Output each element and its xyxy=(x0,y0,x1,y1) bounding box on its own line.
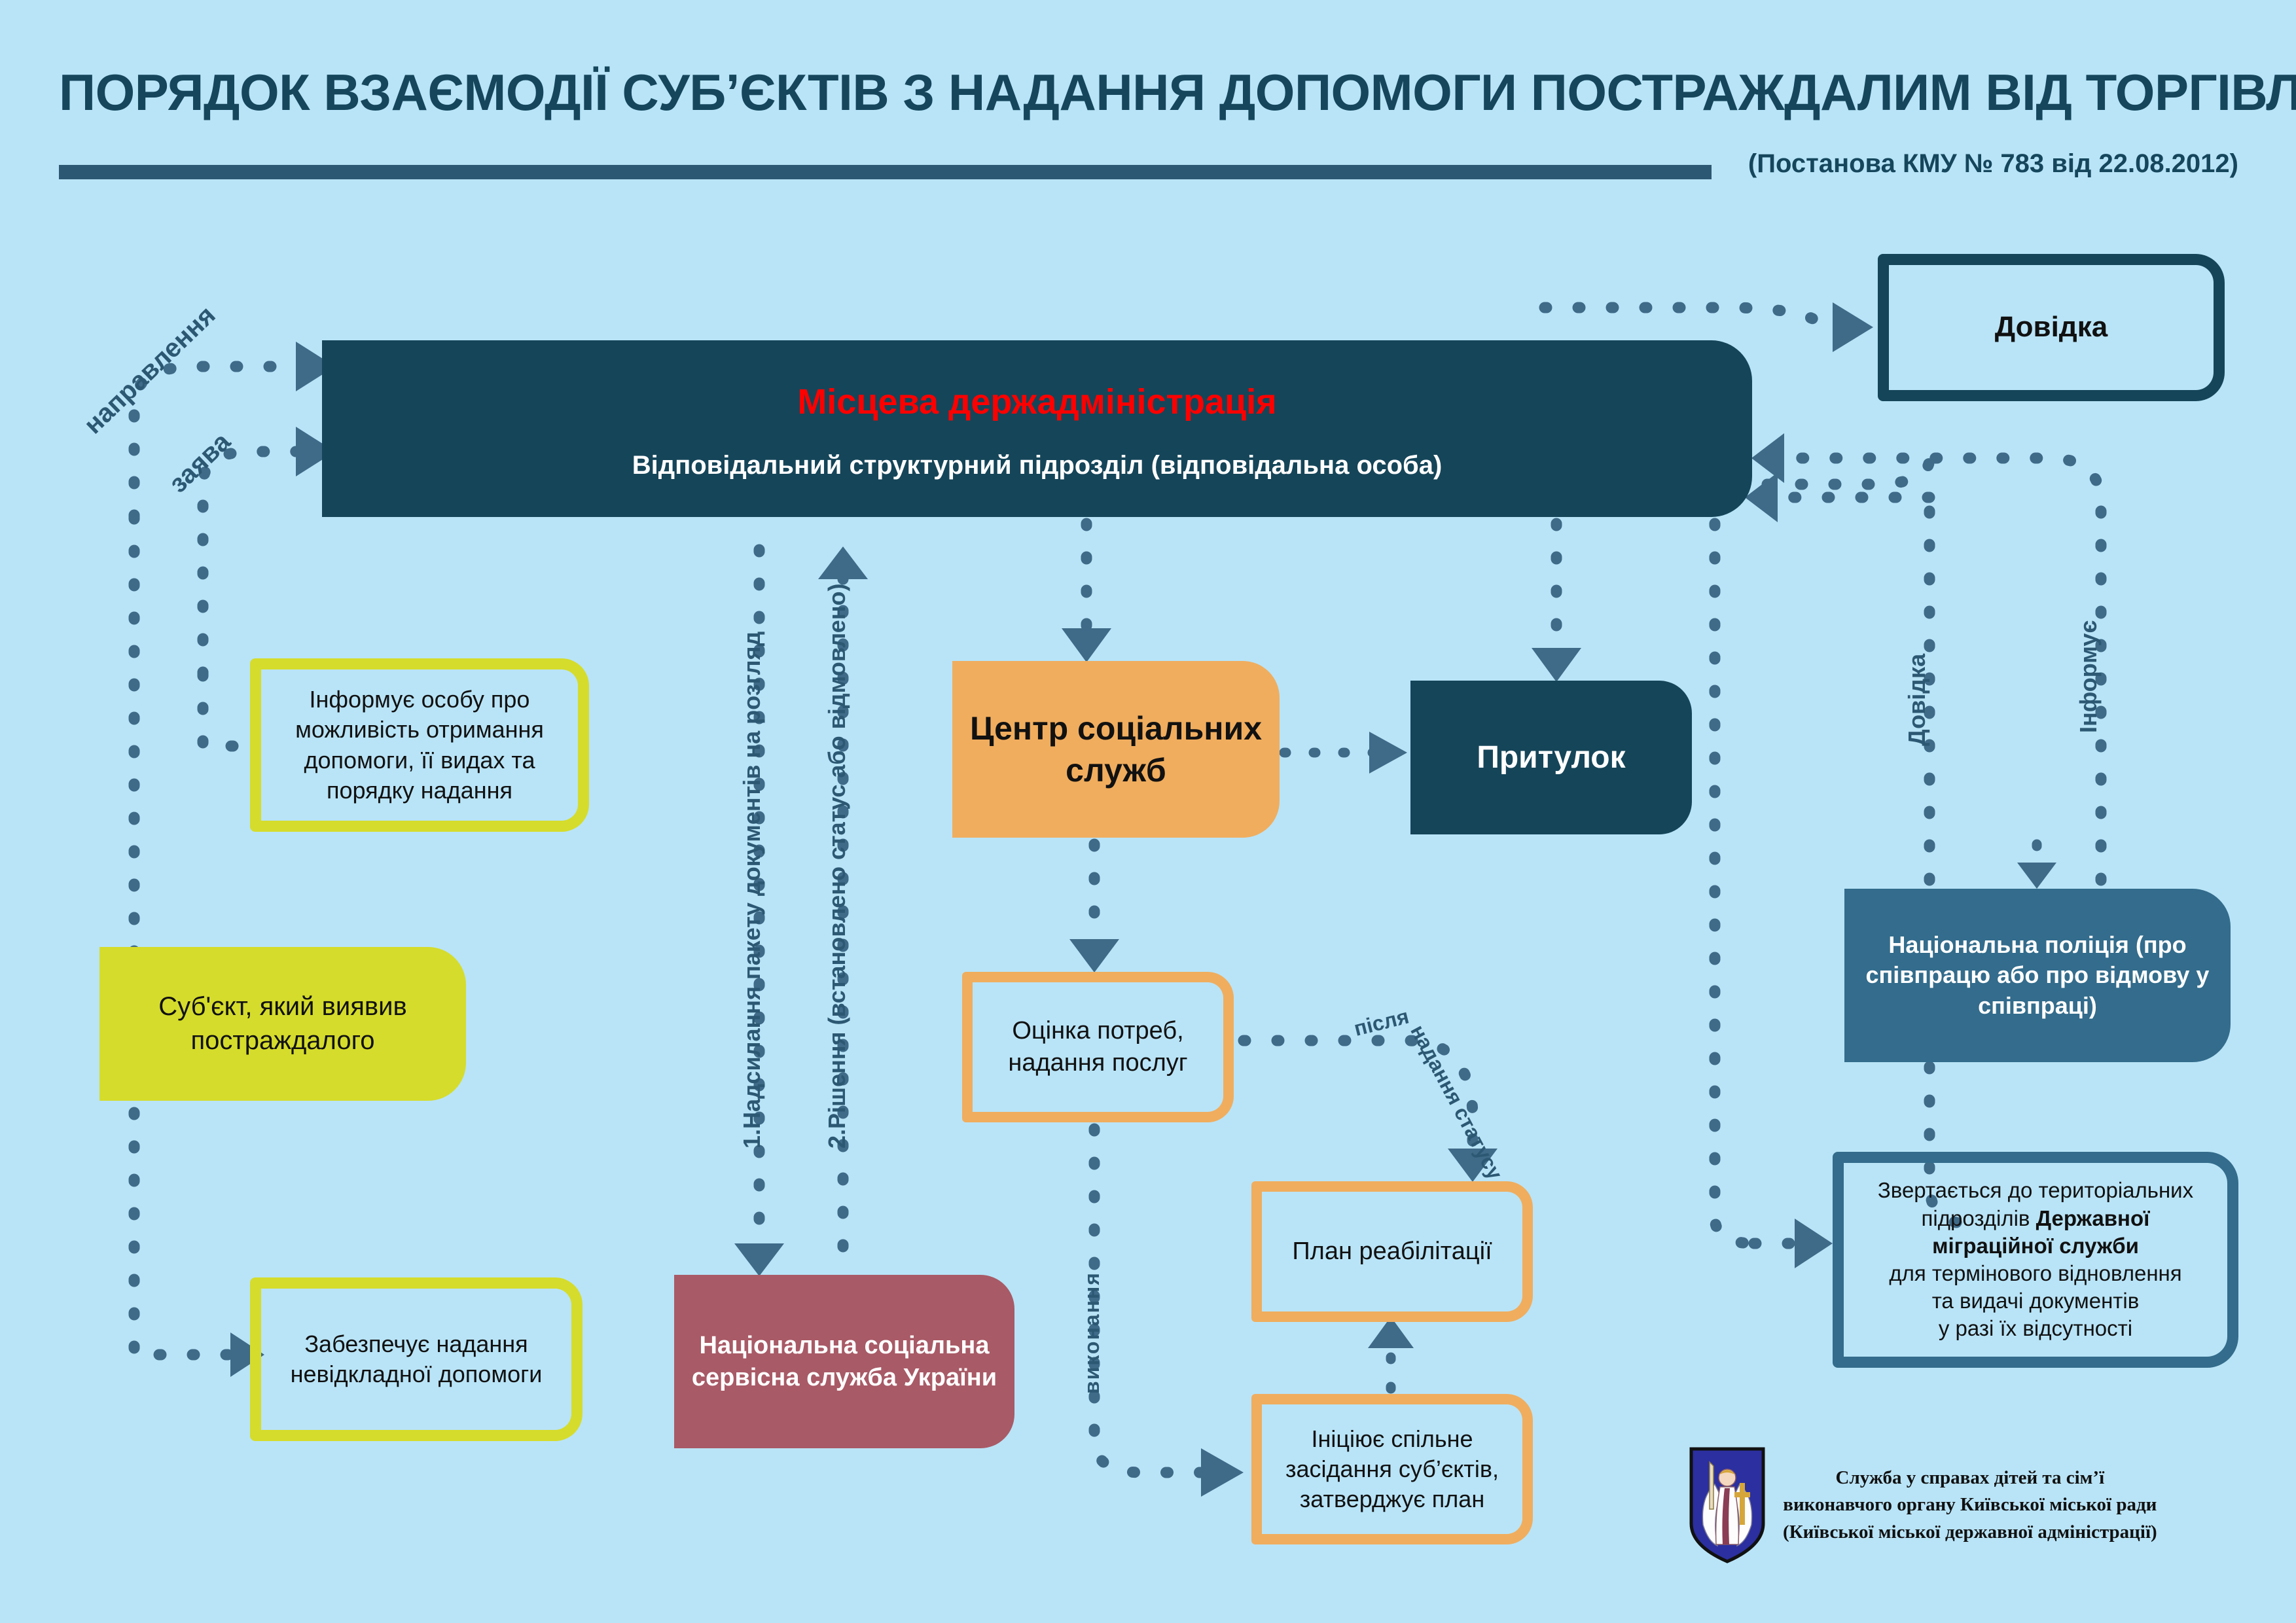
edge-label-pislya: після xyxy=(1352,1004,1411,1041)
node-urgent-help[interactable]: Забезпечує надання невідкладної допомоги xyxy=(250,1277,583,1441)
page-subtitle: (Постанова КМУ № 783 від 22.08.2012) xyxy=(1309,149,2238,179)
kyiv-coat-of-arms-icon xyxy=(1689,1446,1766,1564)
edge-label-zayava: заява xyxy=(164,427,236,499)
footer-line-3: (Київської міської державної адміністрац… xyxy=(1783,1519,2157,1546)
edge-label-informue-vertical: Інформує xyxy=(2075,620,2102,733)
migration-line2a: підрозділів xyxy=(1922,1206,2036,1230)
edge-label-vykonannya: виконання xyxy=(1080,1272,1104,1394)
footer-line-1: Служба у справах дітей та сім’ї xyxy=(1783,1465,2157,1491)
node-needs-assessment[interactable]: Оцінка потреб, надання послуг xyxy=(962,972,1234,1122)
node-informs-person[interactable]: Інформує особу про можливість отримання … xyxy=(250,658,589,832)
migration-line1: Звертається до територіальних xyxy=(1878,1178,2193,1202)
node-dovidka[interactable]: Довідка xyxy=(1878,254,2225,401)
edge-label-napravlennya: направлення xyxy=(79,300,221,440)
node-subject-who-found-victim[interactable]: Суб'єкт, який виявив постраждалого xyxy=(99,947,466,1101)
node-national-social-service[interactable]: Національна соціальна сервісна служба Ук… xyxy=(674,1275,1014,1448)
node-shelter[interactable]: Притулок xyxy=(1410,681,1692,834)
migration-line6: у разі їх відсутності xyxy=(1939,1316,2132,1340)
edge-label-step1: 1.Надсилання пакету документів на розгля… xyxy=(738,632,766,1149)
edge-label-dovidka-vertical: Довідка xyxy=(1903,654,1931,746)
admin-subtitle: Відповідальний структурний підрозділ (ві… xyxy=(632,451,1443,480)
migration-line3b: міграційної служби xyxy=(1932,1234,2139,1258)
migration-line4: для термінового відновлення xyxy=(1889,1261,2181,1285)
edge-label-nadannya-statusu: надання статусу xyxy=(1405,1021,1507,1184)
node-joint-meeting[interactable]: Ініціює спільне засідання суб’єктів, зат… xyxy=(1251,1394,1533,1544)
migration-line5: та видачі документів xyxy=(1932,1289,2140,1313)
node-social-services-center[interactable]: Центр соціальних служб xyxy=(952,661,1280,838)
node-migration-service[interactable]: Звертається до територіальних підрозділі… xyxy=(1833,1152,2238,1368)
node-rehabilitation-plan[interactable]: План реабілітації xyxy=(1251,1181,1533,1322)
footer-line-2: виконавчого органу Київської міської рад… xyxy=(1783,1491,2157,1518)
admin-title: Місцева держадміністрація xyxy=(797,382,1276,422)
page-title: ПОРЯДОК ВЗАЄМОДІЇ СУБ’ЄКТІВ З НАДАННЯ ДО… xyxy=(59,63,2238,122)
edge-label-step2: 2.Рішення (встановлено статус або відмов… xyxy=(823,583,851,1149)
infographic-canvas: ПОРЯДОК ВЗАЄМОДІЇ СУБ’ЄКТІВ З НАДАННЯ ДО… xyxy=(0,0,2296,1623)
footer-text: Служба у справах дітей та сім’ї виконавч… xyxy=(1783,1465,2157,1546)
node-local-state-administration[interactable]: Місцева держадміністрація Відповідальний… xyxy=(322,340,1752,517)
footer: Служба у справах дітей та сім’ї виконавч… xyxy=(1689,1433,2251,1577)
node-national-police[interactable]: Національна поліція (про співпрацю або п… xyxy=(1844,889,2231,1062)
migration-line2b: Державної xyxy=(2036,1206,2150,1230)
